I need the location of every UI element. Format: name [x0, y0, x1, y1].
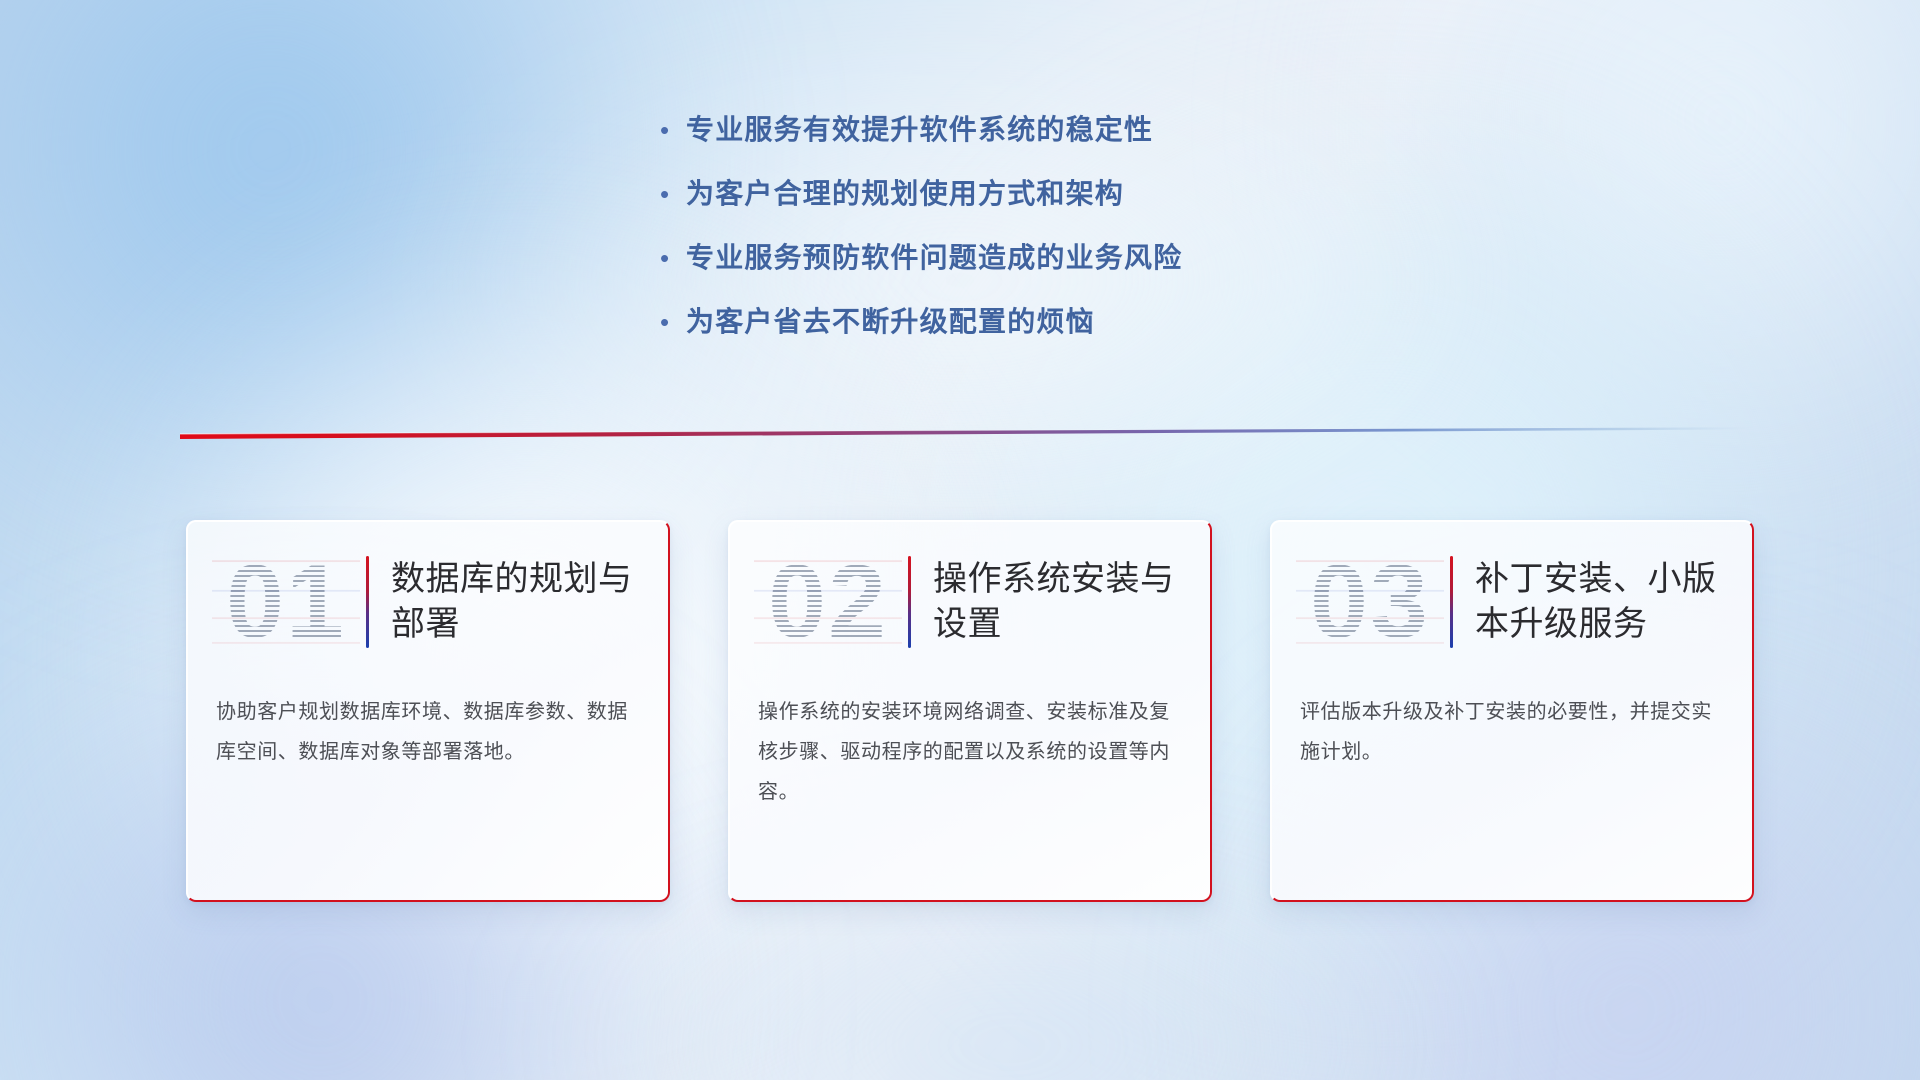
bullet-dot-icon: •: [660, 245, 686, 271]
card-title: 补丁安装、小版本升级服务: [1475, 557, 1754, 647]
bullet-text: 为客户省去不断升级配置的烦恼: [686, 300, 1095, 340]
service-card-02[interactable]: 02 操作系统安装与设置 操作系统的安装环境网络调查、安装标准及复核步骤、驱动程…: [728, 520, 1212, 902]
card-header: 03 补丁安装、小版本升级服务: [1270, 520, 1754, 684]
card-body-text: 协助客户规划数据库环境、数据库参数、数据库空间、数据库对象等部署落地。: [186, 684, 670, 772]
benefits-bullet-list: • 专业服务有效提升软件系统的稳定性 • 为客户合理的规划使用方式和架构 • 专…: [660, 108, 1480, 364]
service-card-03[interactable]: 03 补丁安装、小版本升级服务 评估版本升级及补丁安装的必要性，并提交实施计划。: [1270, 520, 1754, 902]
card-accent-bar: [1450, 556, 1453, 648]
card-title: 数据库的规划与部署: [391, 557, 670, 647]
card-accent-bar: [908, 556, 911, 648]
service-card-01[interactable]: 01 数据库的规划与部署 协助客户规划数据库环境、数据库参数、数据库空间、数据库…: [186, 520, 670, 902]
card-accent-bar: [366, 556, 369, 648]
bullet-text: 专业服务预防软件问题造成的业务风险: [686, 236, 1182, 276]
background-glow-top-left: [0, 0, 720, 530]
bullet-text: 专业服务有效提升软件系统的稳定性: [686, 108, 1153, 148]
bullet-dot-icon: •: [660, 181, 686, 207]
list-item: • 为客户省去不断升级配置的烦恼: [660, 300, 1480, 364]
card-number-watermark: 02: [754, 540, 902, 664]
card-title: 操作系统安装与设置: [933, 557, 1212, 647]
card-header: 02 操作系统安装与设置: [728, 520, 1212, 684]
list-item: • 为客户合理的规划使用方式和架构: [660, 172, 1480, 236]
bullet-dot-icon: •: [660, 309, 686, 335]
card-number-watermark: 01: [212, 540, 360, 664]
list-item: • 专业服务预防软件问题造成的业务风险: [660, 236, 1480, 300]
card-number-watermark: 03: [1296, 540, 1444, 664]
service-card-row: 01 数据库的规划与部署 协助客户规划数据库环境、数据库参数、数据库空间、数据库…: [186, 520, 1756, 920]
card-body-text: 评估版本升级及补丁安装的必要性，并提交实施计划。: [1270, 684, 1754, 772]
bullet-dot-icon: •: [660, 117, 686, 143]
list-item: • 专业服务有效提升软件系统的稳定性: [660, 108, 1480, 172]
card-body-text: 操作系统的安装环境网络调查、安装标准及复核步骤、驱动程序的配置以及系统的设置等内…: [728, 684, 1212, 812]
card-header: 01 数据库的规划与部署: [186, 520, 670, 684]
bullet-text: 为客户合理的规划使用方式和架构: [686, 172, 1124, 212]
